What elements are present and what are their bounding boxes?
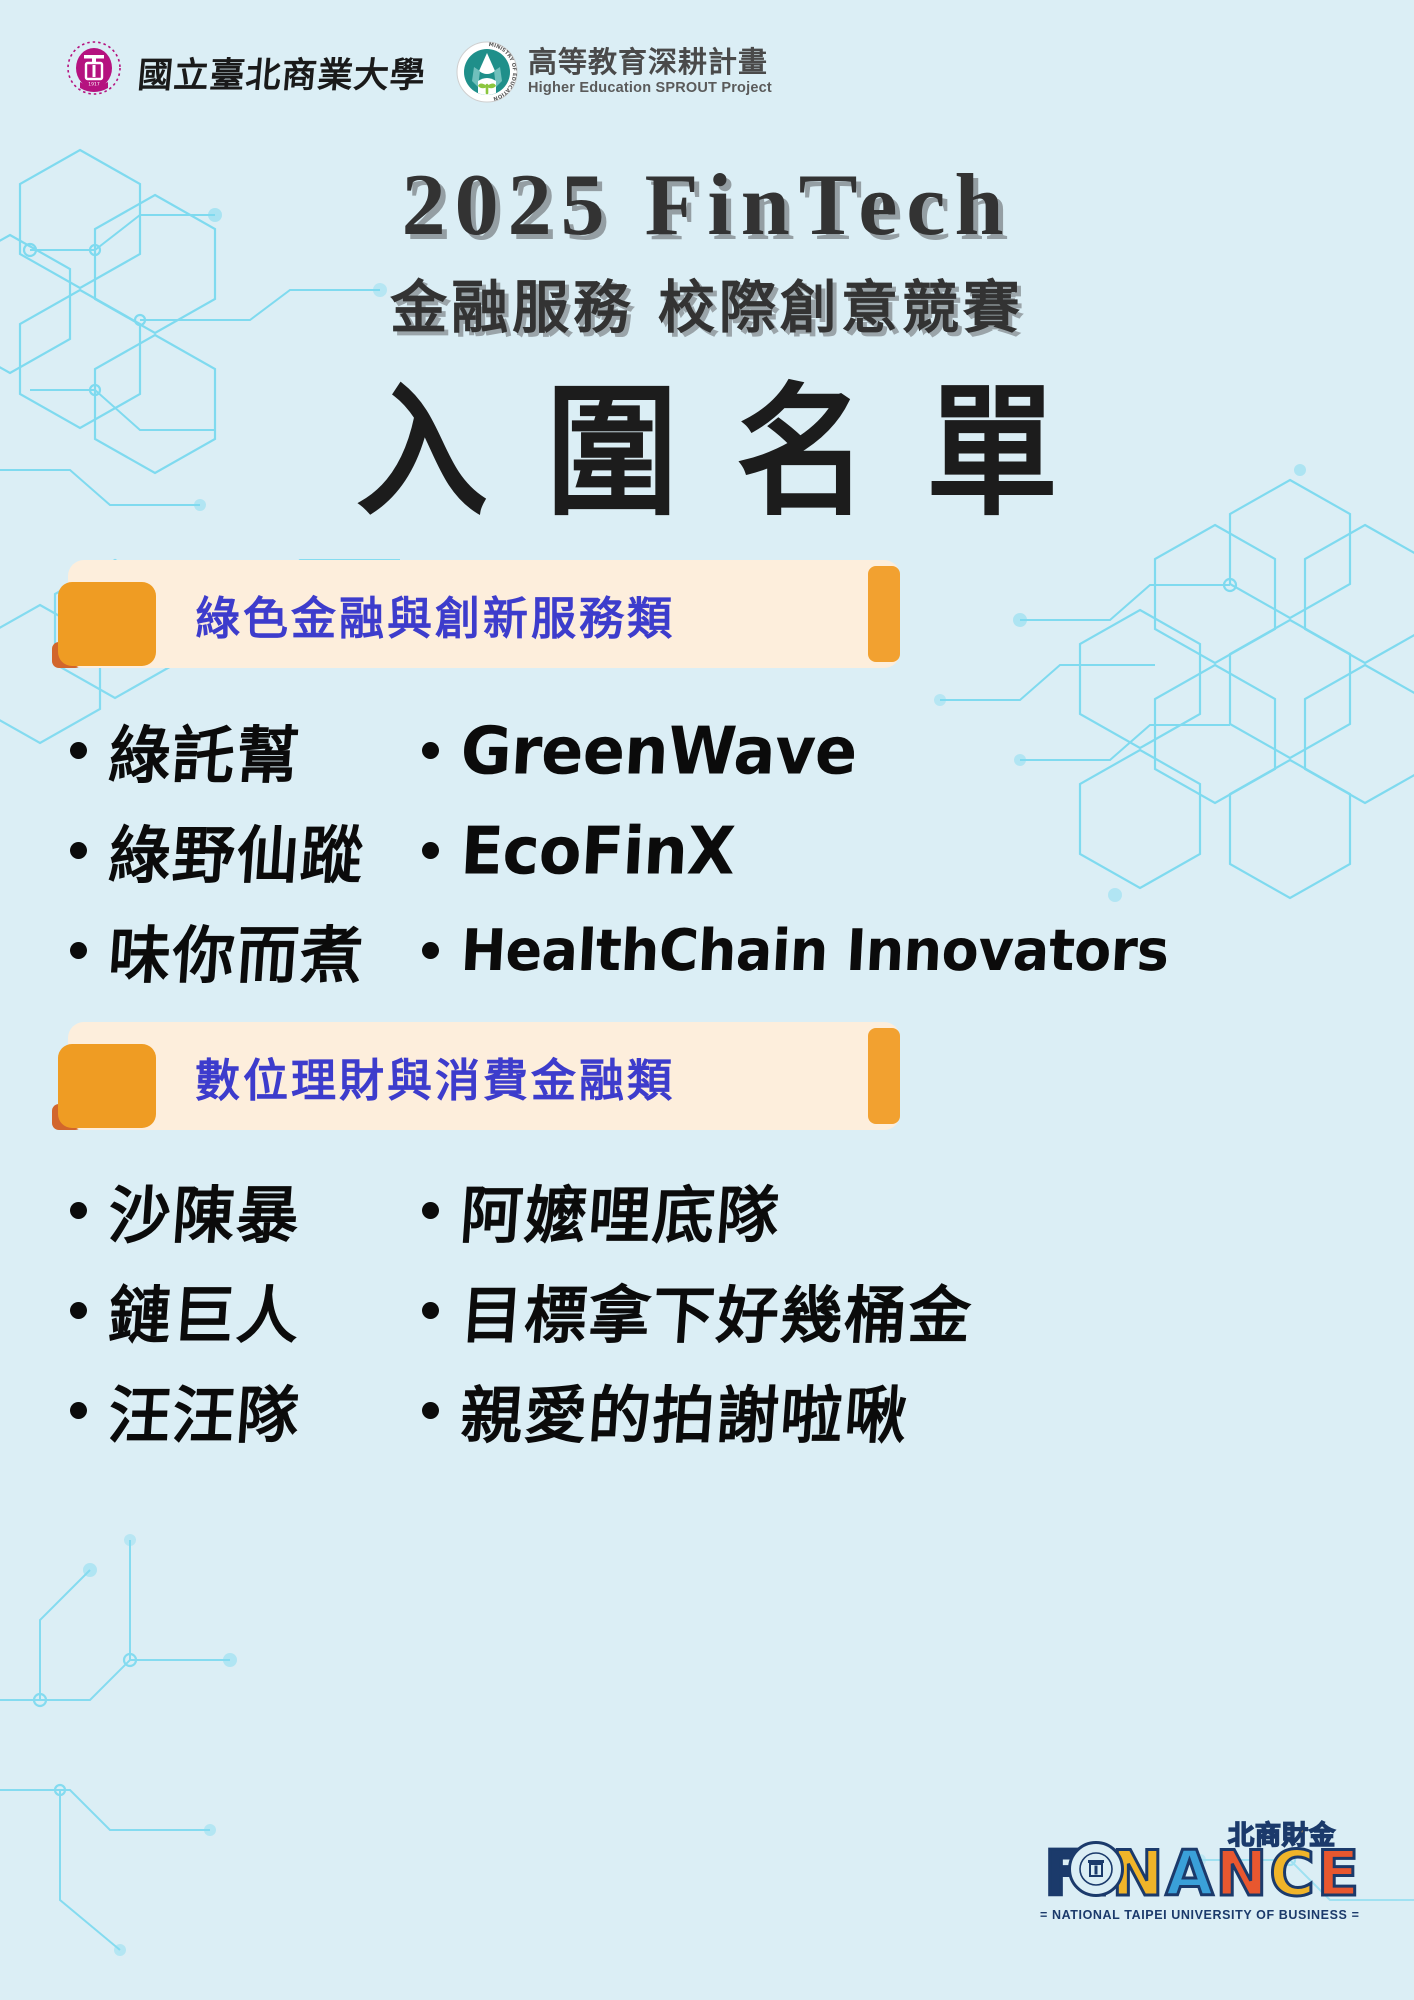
team-list-green-finance: 綠託幫 綠野仙蹤 味你而煮 GreenWave EcoFinX HealthCh… [70, 700, 1169, 1000]
wordmark-letter: N [1216, 1845, 1268, 1904]
finance-department-logo: 北商財金 F i N A N C E = NATIONAL TAIPEI UNI… [1040, 1845, 1340, 1922]
bullet-icon [70, 742, 87, 759]
team-column-right: GreenWave EcoFinX HealthChain Innovators [422, 700, 1169, 1000]
poster-title-subtitle: 金融服務 校際創意競賽 [0, 262, 1414, 344]
bullet-icon [422, 942, 439, 959]
bullet-icon [70, 1302, 87, 1319]
team-list-digital-wealth: 沙陳暴 鏈巨人 汪汪隊 阿嬤哩底隊 目標拿下好幾桶金 親愛的拍謝啦啾 [70, 1160, 973, 1460]
wordmark-letter: A [1166, 1845, 1214, 1904]
header-logos: 1917 國立臺北商業大學 MINISTRY OF EDUCATION [60, 38, 772, 106]
team-item: 阿嬤哩底隊 [422, 1160, 973, 1260]
bullet-icon [70, 942, 87, 959]
wordmark-letter: C [1269, 1845, 1315, 1904]
team-name: 鏈巨人 [106, 1265, 304, 1355]
bullet-icon [70, 1202, 87, 1219]
bullet-icon [70, 1402, 87, 1419]
finance-badge-icon [1068, 1841, 1124, 1897]
bullet-icon [70, 842, 87, 859]
category-label-digital-wealth: 數位理財與消費金融類 [195, 1022, 675, 1130]
team-item: 親愛的拍謝啦啾 [422, 1360, 973, 1460]
team-item: 綠託幫 [70, 700, 422, 800]
team-name: 親愛的拍謝啦啾 [458, 1365, 912, 1455]
university-logo-block: 1917 國立臺北商業大學 [60, 38, 426, 106]
ntub-seal-logo: 1917 [60, 38, 128, 106]
team-name: GreenWave [459, 711, 859, 788]
team-name: 目標拿下好幾桶金 [458, 1265, 976, 1355]
bullet-icon [422, 1402, 439, 1419]
banner-edge-accent [868, 1028, 900, 1124]
team-column-left: 綠託幫 綠野仙蹤 味你而煮 [70, 700, 422, 1000]
team-item: 鏈巨人 [70, 1260, 422, 1360]
team-item: HealthChain Innovators [422, 900, 1169, 1000]
team-item: GreenWave [422, 700, 1169, 800]
bullet-icon [422, 842, 439, 859]
team-name: 綠野仙蹤 [106, 805, 368, 895]
team-name: 綠託幫 [106, 705, 304, 795]
team-item: 沙陳暴 [70, 1160, 422, 1260]
ministry-logo-block: MINISTRY OF EDUCATION 高等教育深耕計畫 Higher Ed… [456, 41, 772, 103]
team-column-left: 沙陳暴 鏈巨人 汪汪隊 [70, 1160, 422, 1460]
bullet-icon [422, 742, 439, 759]
team-name: 味你而煮 [106, 905, 368, 995]
team-item: 綠野仙蹤 [70, 800, 422, 900]
banner-edge-accent [868, 566, 900, 662]
team-column-right: 阿嬤哩底隊 目標拿下好幾桶金 親愛的拍謝啦啾 [422, 1160, 973, 1460]
team-item: 汪汪隊 [70, 1360, 422, 1460]
sprout-project-en: Higher Education SPROUT Project [528, 81, 772, 96]
team-name: 阿嬤哩底隊 [458, 1165, 784, 1255]
bullet-icon [422, 1202, 439, 1219]
university-name-cn: 國立臺北商業大學 [136, 47, 428, 98]
team-item: EcoFinX [422, 800, 1169, 900]
team-name: 沙陳暴 [106, 1165, 304, 1255]
svg-text:1917: 1917 [88, 82, 100, 88]
moe-seal-logo: MINISTRY OF EDUCATION [456, 41, 518, 103]
team-name: 汪汪隊 [106, 1365, 304, 1455]
banner-orange-tab [58, 582, 156, 666]
banner-orange-tab [58, 1044, 156, 1128]
team-name: EcoFinX [459, 811, 737, 888]
finance-tagline: = NATIONAL TAIPEI UNIVERSITY OF BUSINESS… [1040, 1908, 1340, 1922]
team-item: 目標拿下好幾桶金 [422, 1260, 973, 1360]
finance-badge-cn: 北商財金 [1228, 1815, 1336, 1852]
sprout-project-cn: 高等教育深耕計畫 [528, 48, 772, 78]
team-item: 味你而煮 [70, 900, 422, 1000]
poster-title-main: 2025 FinTech [0, 155, 1414, 256]
wordmark-letter: E [1317, 1845, 1359, 1904]
poster-headline: 入圍名單 [0, 337, 1414, 543]
category-label-green-finance: 綠色金融與創新服務類 [195, 560, 675, 668]
team-name: HealthChain Innovators [459, 917, 1170, 984]
bullet-icon [422, 1302, 439, 1319]
sprout-project-text: 高等教育深耕計畫 Higher Education SPROUT Project [528, 48, 772, 96]
